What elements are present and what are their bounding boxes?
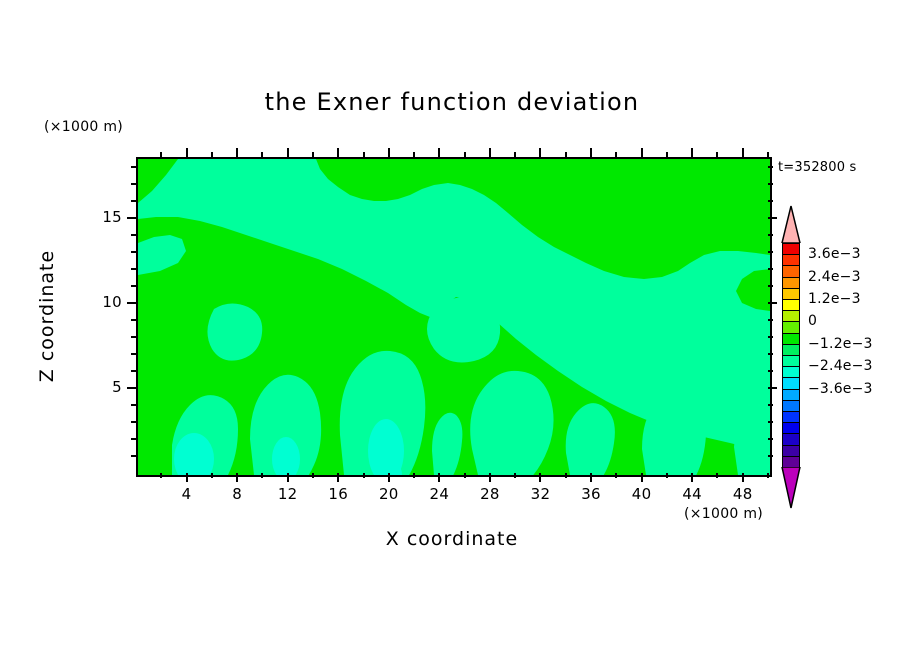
x-tick-major (186, 473, 188, 482)
x-tick-major-top (590, 148, 592, 157)
x-tick-minor (363, 473, 365, 478)
colorbar-top-cap (778, 205, 804, 243)
x-tick-minor (261, 473, 263, 478)
x-tick-minor (464, 473, 466, 478)
y-tick-label: 15 (88, 208, 122, 226)
x-tick-minor (160, 473, 162, 478)
y-tick-minor (131, 285, 136, 287)
x-tick-major (236, 473, 238, 482)
x-tick-minor-top (767, 152, 769, 157)
y-tick-minor (131, 200, 136, 202)
y-tick-major-right (768, 217, 777, 219)
y-tick-major-right (768, 387, 777, 389)
y-tick-minor (131, 319, 136, 321)
colorbar-tick-label: 0 (808, 313, 817, 329)
y-tick-minor-right (768, 438, 773, 440)
colorbar[interactable]: 3.6e−32.4e−31.2e−30−1.2e−3−2.4e−3−3.6e−3 (778, 205, 804, 523)
x-tick-major-top (337, 148, 339, 157)
colorbar-tick-label: 3.6e−3 (808, 246, 861, 262)
x-tick-minor-top (363, 152, 365, 157)
x-tick-label: 40 (622, 485, 662, 503)
x-tick-major-top (438, 148, 440, 157)
x-tick-major (388, 473, 390, 482)
x-tick-minor (716, 473, 718, 478)
colorbar-tick-label: 1.2e−3 (808, 291, 861, 307)
x-tick-major-top (539, 148, 541, 157)
x-tick-minor-top (464, 152, 466, 157)
x-tick-major-top (489, 148, 491, 157)
x-tick-minor-top (413, 152, 415, 157)
x-tick-major-top (287, 148, 289, 157)
y-tick-minor-right (768, 336, 773, 338)
y-tick-minor (131, 455, 136, 457)
y-tick-minor-right (768, 421, 773, 423)
colorbar-tick-label: 2.4e−3 (808, 269, 861, 285)
y-tick-minor-right (768, 285, 773, 287)
x-tick-minor-top (514, 152, 516, 157)
y-tick-major (127, 302, 136, 304)
x-tick-major (742, 473, 744, 482)
y-tick-minor-right (768, 268, 773, 270)
x-tick-minor-top (211, 152, 213, 157)
x-tick-major (489, 473, 491, 482)
x-tick-minor-top (312, 152, 314, 157)
y-tick-minor-right (768, 251, 773, 253)
y-tick-minor-right (768, 200, 773, 202)
y-tick-major-right (768, 302, 777, 304)
x-tick-major-top (186, 148, 188, 157)
x-tick-minor-top (666, 152, 668, 157)
y-tick-minor-right (768, 404, 773, 406)
y-axis-title: Z coordinate (36, 206, 58, 426)
y-tick-minor-right (768, 234, 773, 236)
x-tick-minor-top (716, 152, 718, 157)
x-tick-minor (312, 473, 314, 478)
y-tick-minor-right (768, 353, 773, 355)
x-tick-major (539, 473, 541, 482)
x-tick-minor (413, 473, 415, 478)
y-tick-label: 10 (88, 293, 122, 311)
x-tick-label: 28 (470, 485, 510, 503)
x-tick-minor-top (615, 152, 617, 157)
y-tick-minor (131, 404, 136, 406)
y-tick-minor-right (768, 166, 773, 168)
x-tick-minor-top (160, 152, 162, 157)
y-axis-units-label: (×1000 m) (44, 119, 123, 135)
y-tick-minor (131, 370, 136, 372)
x-tick-major-top (388, 148, 390, 157)
x-tick-label: 32 (520, 485, 560, 503)
timestamp-label: t=352800 s (778, 160, 857, 175)
x-tick-major (590, 473, 592, 482)
x-tick-minor (767, 473, 769, 478)
y-tick-minor (131, 234, 136, 236)
x-tick-label: 12 (268, 485, 308, 503)
x-tick-minor (565, 473, 567, 478)
y-tick-minor-right (768, 370, 773, 372)
x-tick-label: 16 (318, 485, 358, 503)
y-tick-minor-right (768, 319, 773, 321)
y-tick-major (127, 387, 136, 389)
x-tick-label: 48 (723, 485, 763, 503)
x-tick-major (438, 473, 440, 482)
x-tick-major-top (236, 148, 238, 157)
colorbar-tick-label: −1.2e−3 (808, 336, 873, 352)
contour-field (138, 159, 770, 475)
x-axis-units-label: (×1000 m) (684, 506, 763, 522)
x-tick-major (641, 473, 643, 482)
x-tick-label: 36 (571, 485, 611, 503)
x-tick-minor (514, 473, 516, 478)
x-tick-label: 8 (217, 485, 257, 503)
x-tick-minor-top (261, 152, 263, 157)
colorbar-tick-label: −2.4e−3 (808, 358, 873, 374)
figure-root: the Exner function deviation (×1000 m) t… (0, 0, 904, 654)
y-tick-minor (131, 353, 136, 355)
y-tick-minor (131, 183, 136, 185)
y-tick-minor-right (768, 183, 773, 185)
x-tick-major-top (641, 148, 643, 157)
page-title: the Exner function deviation (0, 88, 904, 116)
y-tick-label: 5 (88, 378, 122, 396)
y-tick-major (127, 217, 136, 219)
x-tick-major (691, 473, 693, 482)
x-tick-minor (666, 473, 668, 478)
x-tick-major (287, 473, 289, 482)
x-axis-title: X coordinate (0, 528, 904, 550)
y-tick-minor (131, 421, 136, 423)
y-tick-minor (131, 166, 136, 168)
x-tick-major-top (691, 148, 693, 157)
x-tick-major-top (742, 148, 744, 157)
y-tick-minor (131, 438, 136, 440)
y-tick-minor (131, 336, 136, 338)
colorbar-tick-label: −3.6e−3 (808, 381, 873, 397)
x-tick-minor-top (565, 152, 567, 157)
x-tick-minor (615, 473, 617, 478)
x-tick-major (337, 473, 339, 482)
colorbar-bottom-cap (778, 467, 804, 509)
x-tick-minor (211, 473, 213, 478)
x-tick-label: 44 (672, 485, 712, 503)
x-tick-label: 4 (167, 485, 207, 503)
contour-plot-area (136, 157, 772, 477)
y-tick-minor (131, 268, 136, 270)
x-tick-label: 20 (369, 485, 409, 503)
y-tick-minor-right (768, 455, 773, 457)
y-tick-minor (131, 251, 136, 253)
x-tick-label: 24 (419, 485, 459, 503)
